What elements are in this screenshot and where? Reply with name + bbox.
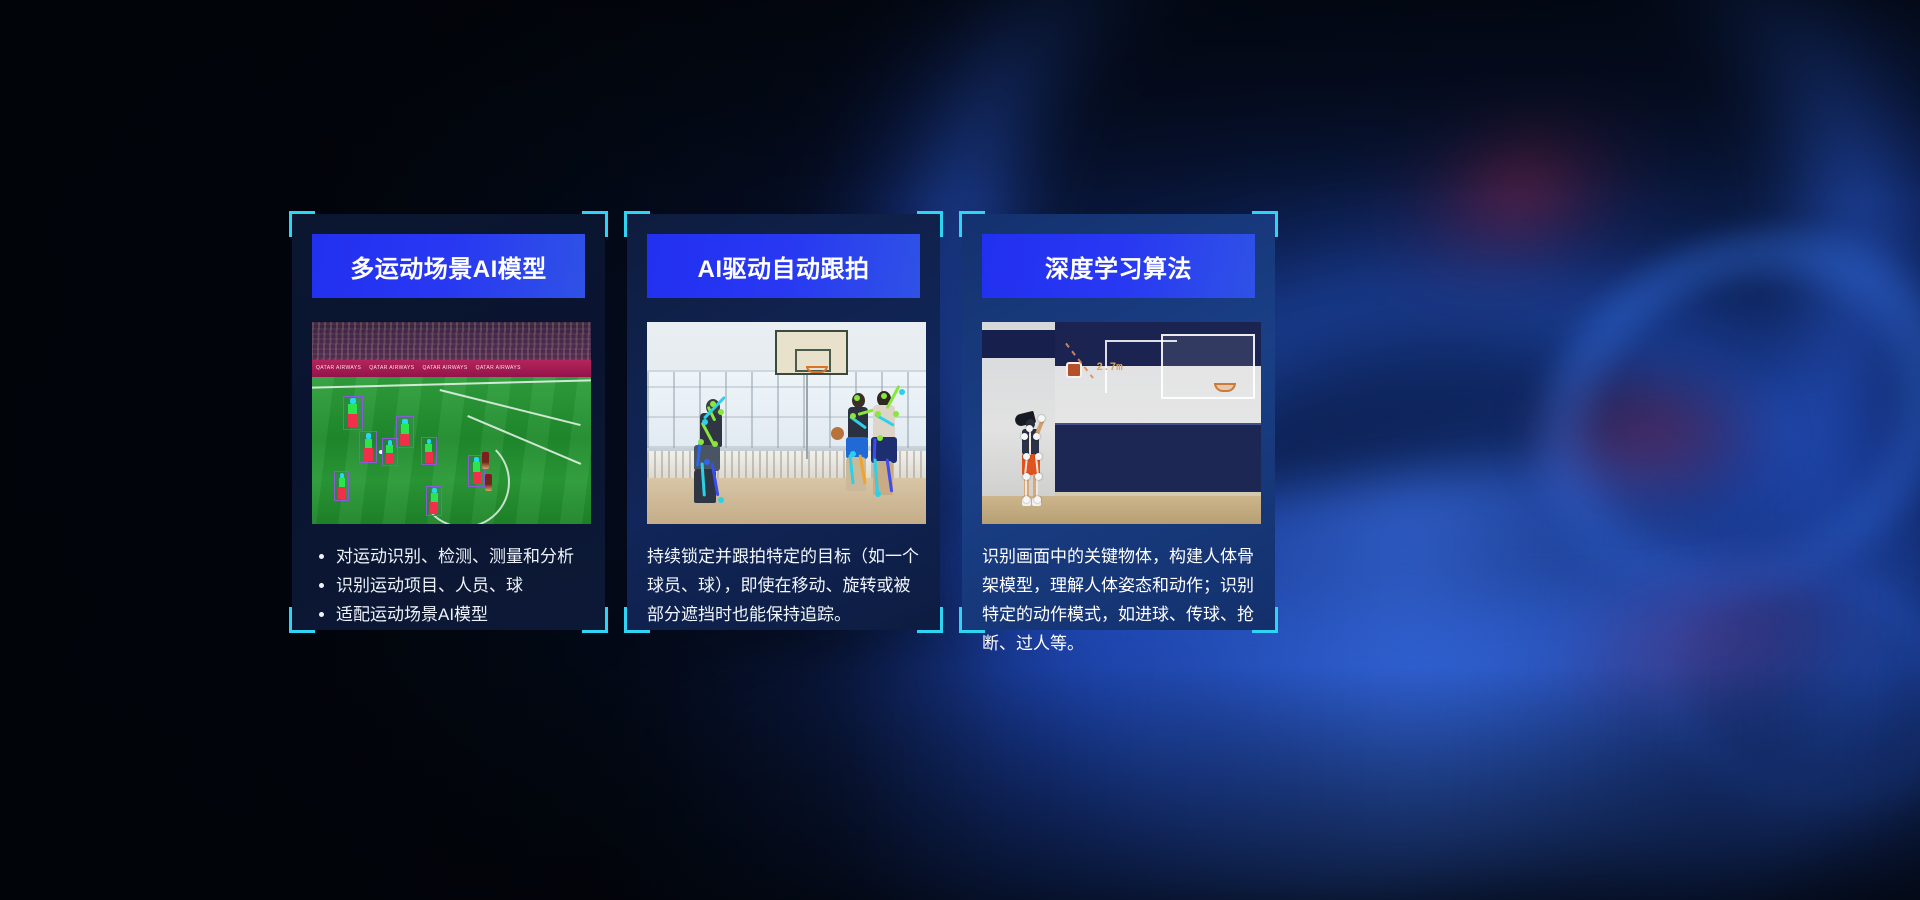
ball-tracking-box	[1066, 362, 1082, 378]
soccer-pitch	[312, 377, 591, 524]
player-bounding-box	[426, 486, 442, 516]
soccer-detection-thumbnail[interactable]: QATAR AIRWAYS QATAR AIRWAYS QATAR AIRWAY…	[312, 322, 591, 524]
soccer-scene: QATAR AIRWAYS QATAR AIRWAYS QATAR AIRWAY…	[312, 322, 591, 524]
feature-card-multi-sport-ai-model[interactable]: 多运动场景AI模型 QATAR AIRWAYS QATAR AIRWAYS QA…	[292, 214, 605, 630]
opponent-player	[482, 452, 489, 469]
card-header-banner: 多运动场景AI模型	[312, 234, 585, 298]
player-bounding-box	[421, 437, 437, 465]
pitch-line-diagonal	[440, 389, 581, 426]
hoop-pole	[806, 375, 808, 460]
card-description: 持续锁定并跟拍特定的目标（如一个球员、球），即使在移动、旋转或被部分遮挡时也能保…	[647, 542, 920, 629]
card-description: 识别画面中的关键物体，构建人体骨架模型，理解人体姿态和动作；识别特定的动作模式，…	[982, 542, 1255, 658]
feature-card-row: 多运动场景AI模型 QATAR AIRWAYS QATAR AIRWAYS QA…	[292, 214, 1276, 630]
sponsor-text-3: QATAR AIRWAYS	[422, 365, 467, 371]
hoop-backboard-overlay	[1161, 334, 1256, 399]
list-item: 适配运动场景AI模型	[312, 600, 585, 629]
player-bounding-box	[343, 396, 363, 430]
corner-bracket-top-left-icon	[289, 211, 315, 237]
player-bounding-box	[359, 431, 377, 463]
list-item: 识别运动项目、人员、球	[312, 571, 585, 600]
sponsor-text-4: QATAR AIRWAYS	[476, 365, 521, 371]
card-body: 对运动识别、检测、测量和分析 识别运动项目、人员、球 适配运动场景AI模型	[312, 542, 585, 629]
card-title: AI驱动自动跟拍	[698, 249, 870, 284]
card-header-banner: 深度学习算法	[982, 234, 1255, 298]
corner-bracket-bottom-left-icon	[959, 607, 985, 633]
card-title: 多运动场景AI模型	[350, 249, 547, 284]
corner-bracket-bottom-right-icon	[1252, 607, 1278, 633]
player-bounding-box	[396, 416, 414, 448]
corner-bracket-top-right-icon	[1252, 211, 1278, 237]
pose-skeleton-left	[692, 395, 748, 515]
background-red-glow-mid	[1520, 360, 1780, 510]
player-bounding-box	[334, 471, 349, 501]
corner-bracket-top-left-icon	[624, 211, 650, 237]
corner-bracket-bottom-left-icon	[624, 607, 650, 633]
sponsor-board: QATAR AIRWAYS QATAR AIRWAYS QATAR AIRWAY…	[312, 360, 591, 376]
sponsor-text-1: QATAR AIRWAYS	[316, 365, 361, 371]
feature-bullet-list: 对运动识别、检测、测量和分析 识别运动项目、人员、球 适配运动场景AI模型	[312, 542, 585, 629]
feature-card-deep-learning-algorithm[interactable]: 深度学习算法 2.7m	[962, 214, 1275, 630]
sponsor-text-2: QATAR AIRWAYS	[369, 365, 414, 371]
pitch-line-top	[312, 379, 591, 388]
corner-bracket-top-right-icon	[917, 211, 943, 237]
gym-scene	[647, 322, 926, 524]
pose-skeleton-right-front	[865, 387, 913, 509]
court-wall-padding	[1055, 423, 1261, 492]
corner-bracket-top-right-icon	[582, 211, 608, 237]
shot-tracking-thumbnail[interactable]: 2.7m	[982, 322, 1261, 524]
feature-card-ai-auto-tracking[interactable]: AI驱动自动跟拍	[627, 214, 940, 630]
card-body: 识别画面中的关键物体，构建人体骨架模型，理解人体姿态和动作；识别特定的动作模式，…	[982, 542, 1255, 658]
corner-bracket-top-left-icon	[959, 211, 985, 237]
court-scene: 2.7m	[982, 322, 1261, 524]
corner-bracket-bottom-right-icon	[582, 607, 608, 633]
shooting-player	[1013, 411, 1053, 509]
slide-stage: 多运动场景AI模型 QATAR AIRWAYS QATAR AIRWAYS QA…	[0, 0, 1920, 900]
card-title: 深度学习算法	[1045, 249, 1192, 284]
card-body: 持续锁定并跟拍特定的目标（如一个球员、球），即使在移动、旋转或被部分遮挡时也能保…	[647, 542, 920, 629]
basketball-pose-thumbnail[interactable]	[647, 322, 926, 524]
measurement-label: 2.7m	[1096, 362, 1122, 374]
card-header-banner: AI驱动自动跟拍	[647, 234, 920, 298]
opponent-player	[485, 474, 492, 491]
corner-bracket-bottom-right-icon	[917, 607, 943, 633]
court-navy-stripe	[982, 330, 1055, 358]
list-item: 对运动识别、检测、测量和分析	[312, 542, 585, 571]
player-bounding-box	[382, 438, 398, 466]
